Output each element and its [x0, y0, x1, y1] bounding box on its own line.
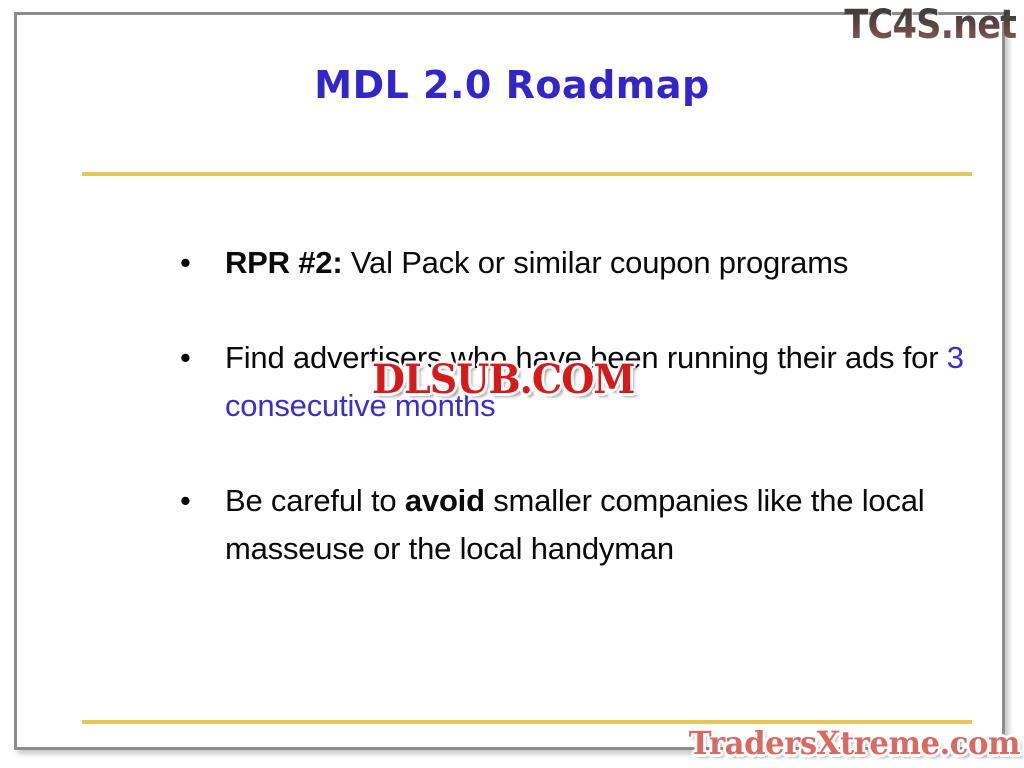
page-title: MDL 2.0 Roadmap	[0, 63, 1024, 107]
text-run: avoid	[405, 483, 485, 518]
list-item-text: Be careful to avoid smaller companies li…	[225, 483, 924, 566]
text-run: Be careful to	[225, 483, 405, 518]
list-item: • RPR #2: Val Pack or similar coupon pro…	[177, 239, 967, 287]
bullet-marker-icon: •	[180, 239, 191, 287]
watermark-tc4s: TC4S.net	[844, 2, 1016, 48]
text-run: Val Pack or similar coupon programs	[342, 245, 848, 280]
bullet-list: • RPR #2: Val Pack or similar coupon pro…	[177, 239, 967, 573]
watermark-tradersxtreme: TradersXtreme.com	[689, 724, 1020, 762]
bullet-marker-icon: •	[180, 477, 191, 525]
bullet-marker-icon: •	[180, 334, 191, 382]
text-run: RPR #2:	[225, 245, 342, 280]
divider-rule-top	[82, 172, 972, 176]
list-item-text: RPR #2: Val Pack or similar coupon progr…	[225, 245, 848, 280]
list-item: • Be careful to avoid smaller companies …	[177, 477, 967, 573]
watermark-dlsub: DLSUB.COM	[372, 356, 634, 403]
